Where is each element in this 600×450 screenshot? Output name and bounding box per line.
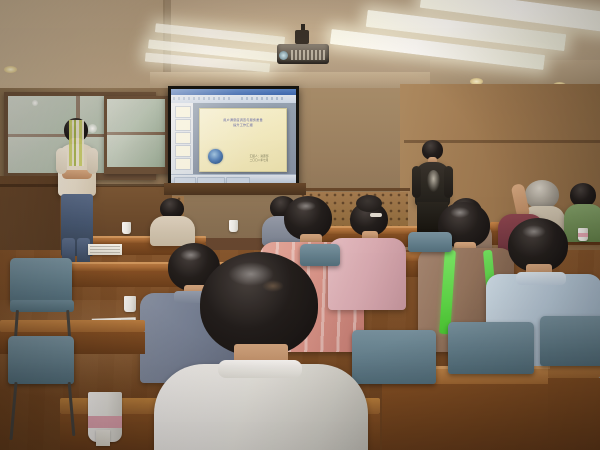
chair [352, 330, 436, 384]
slide-title: 用户满意度调查与服务质量 提升工作汇报 [208, 118, 278, 128]
cup-band [578, 233, 588, 237]
slide-title-line-2: 提升工作汇报 [208, 123, 278, 128]
desk-row-front [382, 384, 550, 450]
slide-byline: 汇报人：资源部 二〇〇八年七月 [239, 155, 279, 163]
hair-highlight [450, 207, 470, 218]
sticky-label [96, 430, 110, 446]
slide-thumbnail [175, 106, 191, 118]
projection-screen: 用户满意度调查与服务质量 提升工作汇报 汇报人：资源部 二〇〇八年七月 [168, 86, 299, 187]
window-glint [32, 100, 38, 106]
head [525, 180, 559, 209]
collar [218, 360, 302, 378]
slide-thumbnail [175, 132, 191, 144]
projector [277, 42, 329, 68]
slide-thumbnail [175, 158, 191, 170]
projector-mount [295, 30, 309, 44]
arm [444, 166, 453, 198]
hair-updo [356, 195, 382, 212]
chair [448, 322, 534, 374]
projector-body [277, 44, 329, 64]
screen-lower-board [164, 183, 306, 195]
desk-row-front [548, 378, 600, 450]
slide-editing-stage: 用户满意度调查与服务质量 提升工作汇报 汇报人：资源部 二〇〇八年七月 [193, 103, 296, 175]
presenter-sleeve [56, 148, 67, 174]
toolbar-buttons [173, 97, 233, 100]
hair-highlight [522, 225, 546, 238]
slide-emblem-icon [208, 149, 223, 164]
chair [408, 232, 452, 252]
ceiling-downlight [4, 66, 17, 73]
paper-lines [90, 246, 120, 253]
window-frame [104, 96, 172, 174]
cup-band [88, 416, 122, 428]
toolbar-buttons [241, 97, 286, 100]
window-sheen [107, 99, 165, 167]
slide-thumbnail [175, 145, 191, 157]
wall-trim [298, 188, 410, 191]
arm [412, 166, 421, 198]
torso [150, 216, 195, 246]
slide-byline-line-2: 二〇〇八年七月 [239, 159, 279, 163]
hair-crown-whorl [262, 280, 284, 292]
projector-vent [291, 50, 325, 60]
chair [540, 316, 600, 366]
chair-seat [10, 300, 74, 312]
chair [300, 244, 340, 266]
paper-cup [229, 220, 238, 232]
current-slide: 用户满意度调查与服务质量 提升工作汇报 汇报人：资源部 二〇〇八年七月 [199, 108, 287, 172]
hair-clip-icon [370, 213, 382, 217]
hair-highlight [296, 201, 316, 211]
slide-thumbnail [175, 119, 191, 131]
presenter-sleeve [87, 148, 98, 174]
collar [516, 272, 566, 285]
top-pattern [427, 170, 440, 192]
hair-highlight [180, 249, 202, 261]
desk-row-foreground [0, 320, 145, 332]
paper-cup [578, 228, 588, 241]
chair [8, 336, 74, 384]
handout-paper [88, 244, 122, 255]
paper-cup [124, 296, 136, 312]
window-glint [88, 124, 97, 133]
slide-thumbnail-panel [171, 103, 194, 175]
projection-screen-surface: 用户满意度调查与服务质量 提升工作汇报 汇报人：资源部 二〇〇八年七月 [171, 89, 296, 184]
ceiling-beam [0, 0, 165, 96]
presenter-shirt-stripes [69, 120, 84, 166]
chair-empty-left [10, 258, 72, 304]
photograph-seminar-room: 用户满意度调查与服务质量 提升工作汇报 汇报人：资源部 二〇〇八年七月 [0, 0, 600, 450]
projector-lens-icon [279, 51, 288, 60]
paper-cup [122, 222, 131, 234]
